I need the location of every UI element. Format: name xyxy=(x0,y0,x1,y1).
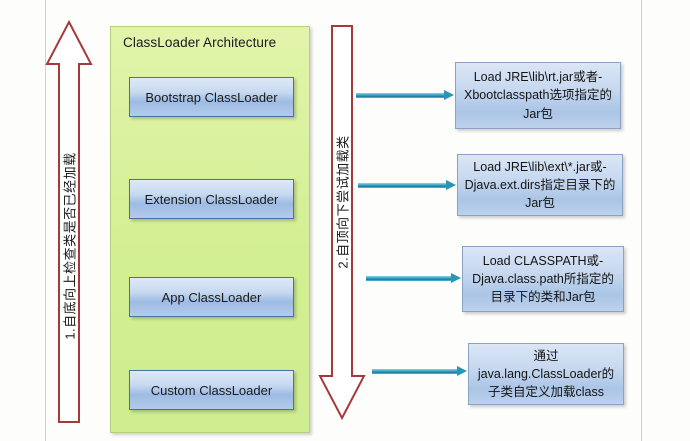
arrow-head-icon xyxy=(451,273,461,283)
arrow-shaft xyxy=(372,369,458,374)
description-box-bootstrap: Load JRE\lib\rt.jar或者-Xbootclasspath选项指定… xyxy=(455,62,621,129)
architecture-panel: ClassLoader Architecture Bootstrap Class… xyxy=(110,26,310,433)
page-title: ClassLoader Architecture xyxy=(123,35,276,50)
description-box-app: Load CLASSPATH或-Djava.class.path所指定的目录下的… xyxy=(462,246,624,312)
connector-arrow-custom xyxy=(372,366,467,377)
arrow-head-icon xyxy=(446,180,456,190)
classloader-architecture-diagram: 1.自底向上检查类是否已经加载 ClassLoader Architecture… xyxy=(0,0,690,441)
downward-flow-arrow: 2.自顶向下尝试加载类 xyxy=(318,22,366,422)
right-frame-rule xyxy=(641,0,642,441)
arrow-shaft xyxy=(358,183,447,188)
description-box-custom: 通过java.lang.ClassLoader的子类自定义加载class xyxy=(468,343,624,405)
arrow-head-icon xyxy=(444,90,454,100)
classloader-box-bootstrap[interactable]: Bootstrap ClassLoader xyxy=(129,77,294,117)
upward-flow-arrow: 1.自底向上检查类是否已经加载 xyxy=(44,18,94,426)
upward-flow-arrow-label: 1.自底向上检查类是否已经加载 xyxy=(60,153,79,340)
connector-arrow-bootstrap xyxy=(356,90,454,101)
arrow-head-icon xyxy=(457,366,467,376)
classloader-box-extension[interactable]: Extension ClassLoader xyxy=(129,179,294,219)
arrow-shaft xyxy=(366,276,452,281)
classloader-box-app[interactable]: App ClassLoader xyxy=(129,277,294,317)
classloader-box-custom[interactable]: Custom ClassLoader xyxy=(129,370,294,410)
downward-flow-arrow-label: 2.自顶向下尝试加载类 xyxy=(333,135,352,268)
description-box-extension: Load JRE\lib\ext\*.jar或-Djava.ext.dirs指定… xyxy=(457,154,623,216)
connector-arrow-app xyxy=(366,273,461,284)
arrow-shaft xyxy=(356,93,445,98)
connector-arrow-extension xyxy=(358,180,456,191)
